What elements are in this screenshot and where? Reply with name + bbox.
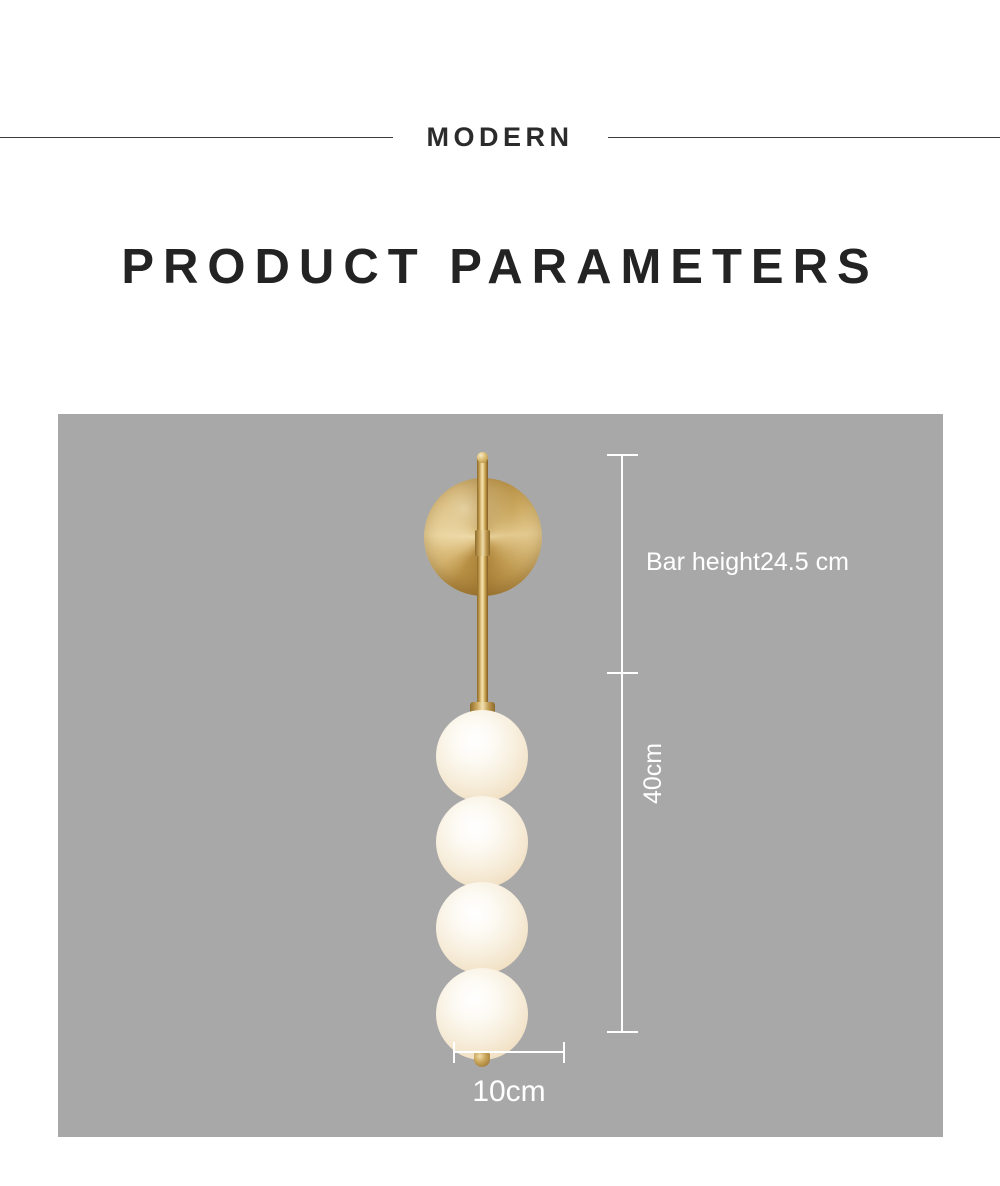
product-image-stage: Bar height24.5 cm 40cm 10cm: [58, 414, 943, 1137]
glass-globe: [436, 968, 528, 1060]
rod-tip-icon: [477, 452, 488, 463]
divider-rule-left: [0, 137, 393, 138]
drop-height-label: 40cm: [641, 743, 666, 804]
divider-rule-right: [608, 137, 1000, 138]
divider-label: MODERN: [393, 124, 608, 151]
dimension-tick-middle: [607, 672, 638, 674]
section-divider: MODERN: [0, 112, 1000, 162]
glass-globe: [436, 796, 528, 888]
horizontal-dimension-line: [453, 1051, 565, 1053]
vertical-dimension-line: [621, 454, 623, 1033]
product-illustration: [400, 448, 580, 1078]
dimension-tick-top: [607, 454, 638, 456]
rod-collar: [475, 530, 490, 556]
width-tick-left: [453, 1042, 455, 1063]
bottom-finial: [474, 1052, 490, 1067]
dimension-tick-bottom: [607, 1031, 638, 1033]
page-title: PRODUCT PARAMETERS: [0, 243, 1000, 292]
bar-height-label: Bar height24.5 cm: [646, 550, 849, 575]
width-label: 10cm: [453, 1077, 565, 1107]
glass-globe: [436, 710, 528, 802]
brass-rod: [477, 455, 488, 735]
glass-globe: [436, 882, 528, 974]
width-tick-right: [563, 1042, 565, 1063]
